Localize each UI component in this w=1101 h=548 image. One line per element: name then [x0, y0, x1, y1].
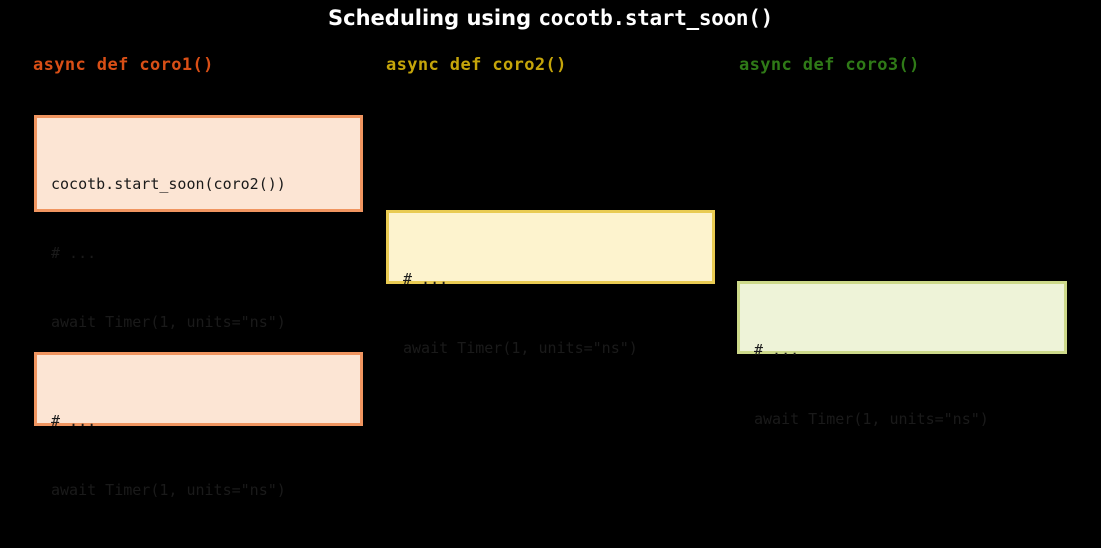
code-line: # ...	[51, 242, 346, 265]
column-header-coro1: async def coro1()	[33, 55, 214, 75]
code-block-coro1-second: # ... await Timer(1, units="ns")	[34, 352, 363, 426]
page-title: Scheduling using cocotb.start_soon()	[0, 6, 1101, 30]
code-block-coro3: # ... await Timer(1, units="ns")	[737, 281, 1067, 354]
code-line: # ...	[51, 410, 346, 433]
column-header-coro3: async def coro3()	[739, 55, 920, 75]
page-title-prefix: Scheduling using	[328, 6, 538, 30]
code-line: cocotb.start_soon(coro2())	[51, 173, 346, 196]
code-line: await Timer(1, units="ns")	[51, 311, 346, 334]
column-header-coro2: async def coro2()	[386, 55, 567, 75]
scheduling-diagram: Scheduling using cocotb.start_soon() asy…	[0, 0, 1101, 423]
page-title-code: cocotb.start_soon()	[538, 6, 773, 30]
code-line: # ...	[403, 268, 698, 291]
code-line: await Timer(1, units="ns")	[403, 337, 698, 360]
code-line: await Timer(1, units="ns")	[51, 479, 346, 502]
code-block-coro1-first: cocotb.start_soon(coro2()) # ... await T…	[34, 115, 363, 212]
code-line: # ...	[754, 339, 1050, 362]
code-block-coro2: # ... await Timer(1, units="ns")	[386, 210, 715, 284]
code-line: await Timer(1, units="ns")	[754, 408, 1050, 431]
